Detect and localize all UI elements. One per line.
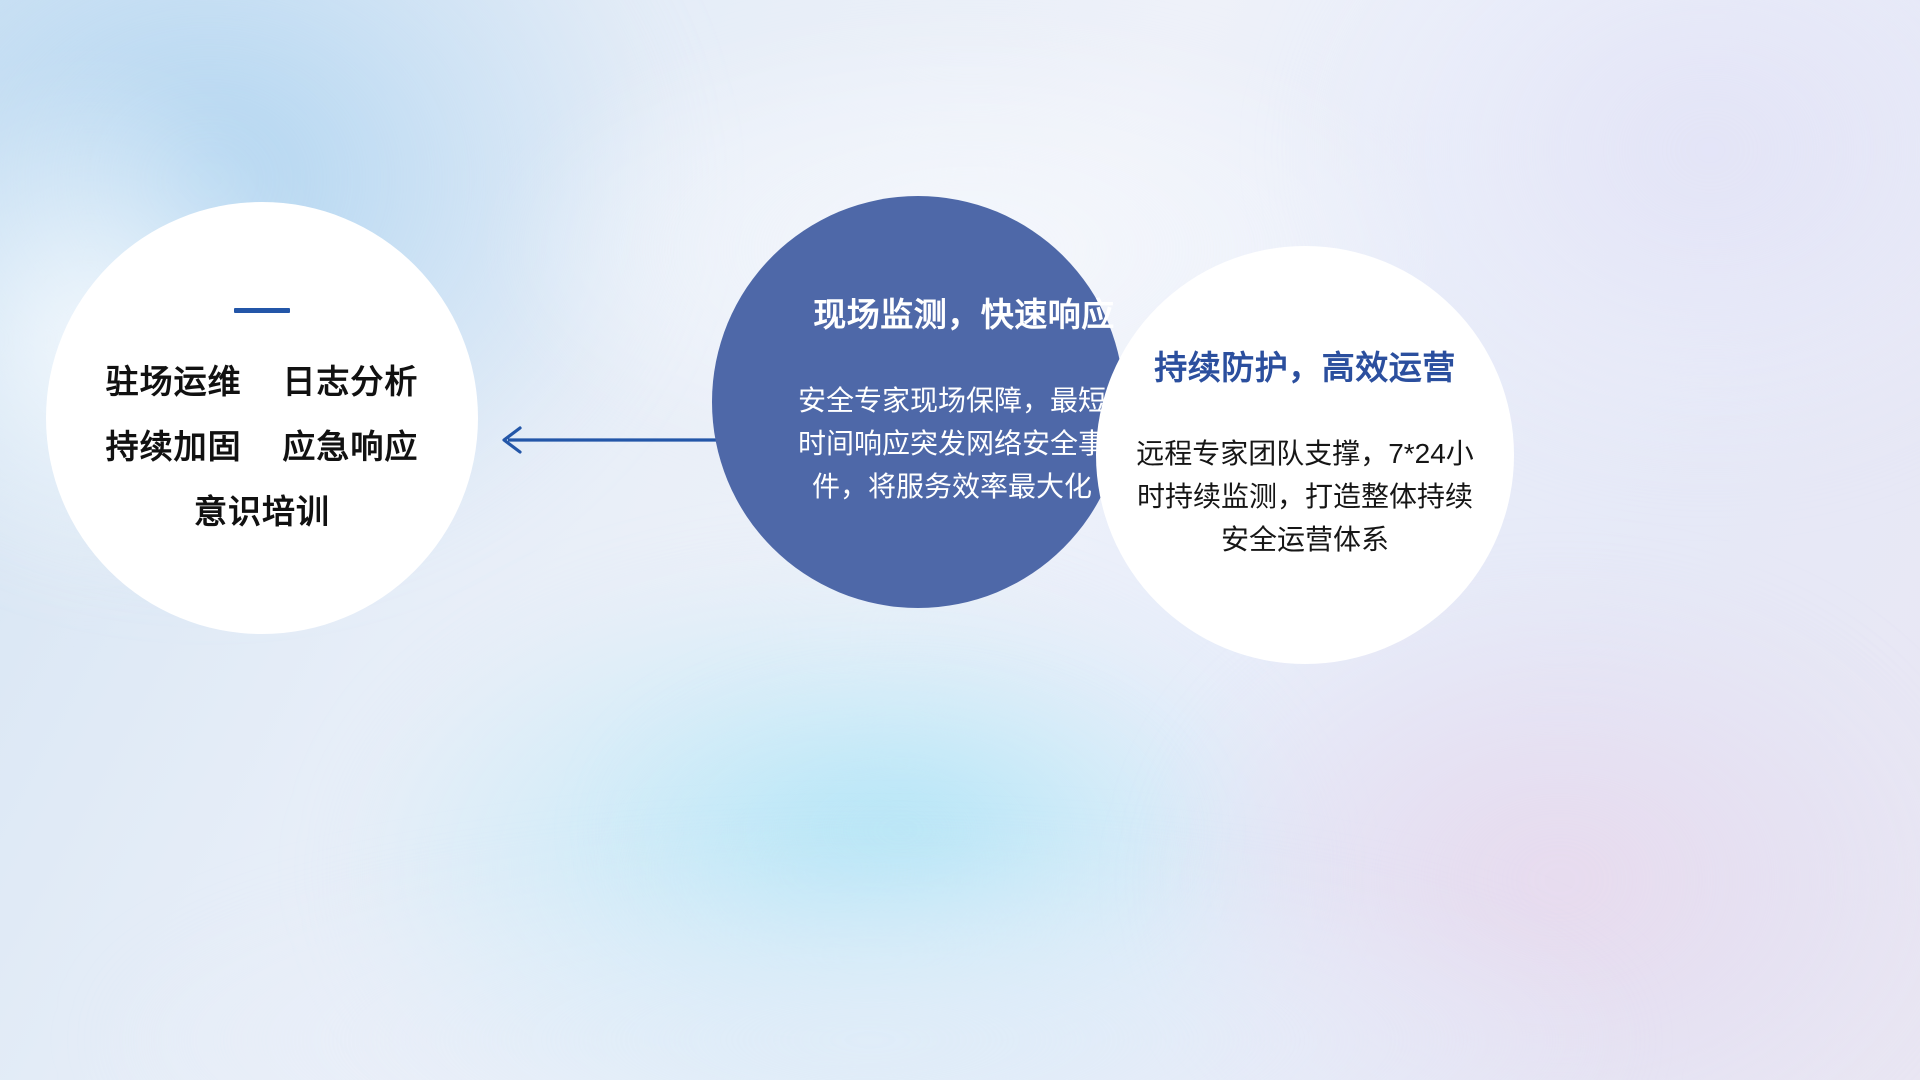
capability-line-1: 驻场运维 日志分析: [106, 365, 419, 398]
divider-dash: [234, 308, 290, 313]
feature-title-continuous: 持续防护，高效运营: [1154, 348, 1456, 388]
feature-body-continuous: 远程专家团队支撑，7*24小时持续监测，打造整体持续安全运营体系: [1132, 432, 1478, 562]
background-glow-mid-cyan: [620, 680, 1180, 980]
capability-line-2: 持续加固 应急响应: [106, 430, 419, 463]
feature-body-onsite: 安全专家现场保障，最短时间响应突发网络安全事件，将服务效率最大化: [792, 379, 1112, 509]
background-glow-bottom-right-lavender: [1180, 600, 1920, 1080]
feature-circle-onsite[interactable]: 现场监测，快速响应 安全专家现场保障，最短时间响应突发网络安全事件，将服务效率最…: [712, 196, 1124, 608]
feature-circle-continuous[interactable]: 持续防护，高效运营 远程专家团队支撑，7*24小时持续监测，打造整体持续安全运营…: [1096, 246, 1514, 664]
background-glow-center-cyan: [340, 560, 1320, 1080]
capability-circle-left[interactable]: 驻场运维 日志分析 持续加固 应急响应 意识培训: [46, 202, 478, 634]
feature-title-onsite: 现场监测，快速响应: [813, 295, 1115, 335]
slide-canvas: 驻场运维 日志分析 持续加固 应急响应 意识培训 现场监测，快速响应 安全专家现…: [0, 0, 1920, 1080]
capability-line-3: 意识培训: [194, 495, 330, 528]
background-glow-bottom-band: [120, 860, 1620, 1080]
